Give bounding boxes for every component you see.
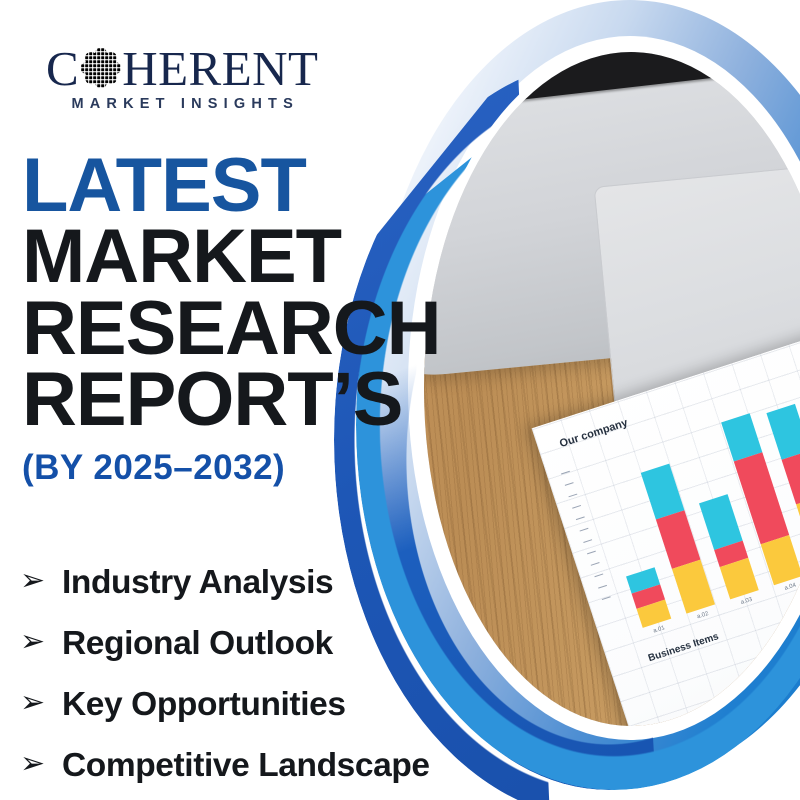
bar-segment-red [656,510,701,568]
headline-line-1: LATEST [22,150,492,221]
list-item: ➢Regional Outlook [20,613,510,674]
headline-line-3: RESEARCH [22,293,492,364]
bar-segment-cyan [766,403,800,459]
bar-segment-yellow [672,559,715,613]
logo-letter-c: C [46,44,79,93]
headline-line-2: MARKET [22,221,492,292]
arrow-bullet-icon: ➢ [20,749,62,779]
quatrefoil-globe-icon [81,48,121,88]
feature-bullet-list: ➢Industry Analysis➢Regional Outlook➢Key … [20,552,510,796]
headline-line-4: REPORT’S [22,364,492,435]
list-item-label: Key Opportunities [62,686,346,724]
list-item: ➢Industry Analysis [20,552,510,613]
bar-segment-red [782,450,800,504]
company-logo: C [46,42,318,112]
list-item-label: Competitive Landscape [62,747,430,785]
headline-block: LATEST MARKET RESEARCH REPORT’S (BY 2025… [22,150,492,488]
arrow-bullet-icon: ➢ [20,566,62,596]
arrow-bullet-icon: ➢ [20,627,62,657]
key-spacebar [487,52,730,103]
bar-segment-yellow [761,535,800,585]
left-content: C [0,0,500,800]
list-item: ➢Key Opportunities [20,674,510,735]
logo-word-herent: HERENT [122,44,318,93]
bar-segment-red [734,452,790,545]
forecast-period: (BY 2025–2032) [22,448,492,488]
bar-segment-cyan [641,463,685,519]
list-item-label: Regional Outlook [62,625,333,663]
list-item: ➢Competitive Landscape [20,735,510,796]
arrow-bullet-icon: ➢ [20,688,62,718]
logo-tagline: MARKET INSIGHTS [46,96,318,112]
list-item-label: Industry Analysis [62,564,333,602]
marketing-poster: V B N ⌘ command option [0,0,800,800]
